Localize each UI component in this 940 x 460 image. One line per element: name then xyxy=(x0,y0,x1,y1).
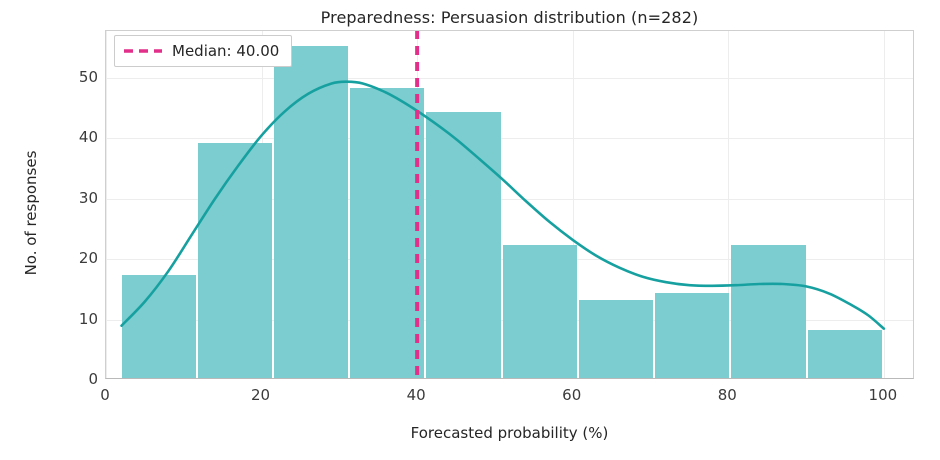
kde-density-curve xyxy=(122,82,884,329)
y-axis-label: No. of responses xyxy=(22,103,40,323)
x-tick-label: 80 xyxy=(697,386,757,404)
y-tick-label: 30 xyxy=(48,189,98,207)
x-tick-label: 0 xyxy=(75,386,135,404)
y-tick-label: 10 xyxy=(48,310,98,328)
x-axis-tick-labels: 020406080100 xyxy=(105,386,914,410)
x-tick-label: 60 xyxy=(542,386,602,404)
chart-title: Preparedness: Persuasion distribution (n… xyxy=(105,8,914,27)
curve-overlay xyxy=(106,31,914,379)
x-axis-label: Forecasted probability (%) xyxy=(105,424,914,442)
legend: Median: 40.00 xyxy=(114,35,292,67)
y-tick-label: 40 xyxy=(48,128,98,146)
y-tick-label: 20 xyxy=(48,249,98,267)
x-tick-label: 40 xyxy=(386,386,446,404)
y-tick-label: 50 xyxy=(48,68,98,86)
x-tick-label: 20 xyxy=(231,386,291,404)
x-tick-label: 100 xyxy=(853,386,913,404)
median-legend-swatch xyxy=(123,45,163,57)
plot-area: Median: 40.00 xyxy=(105,30,914,379)
histogram-figure: Preparedness: Persuasion distribution (n… xyxy=(0,0,940,460)
y-axis-tick-labels: 01020304050 xyxy=(40,30,98,379)
median-legend-label: Median: 40.00 xyxy=(172,42,279,60)
